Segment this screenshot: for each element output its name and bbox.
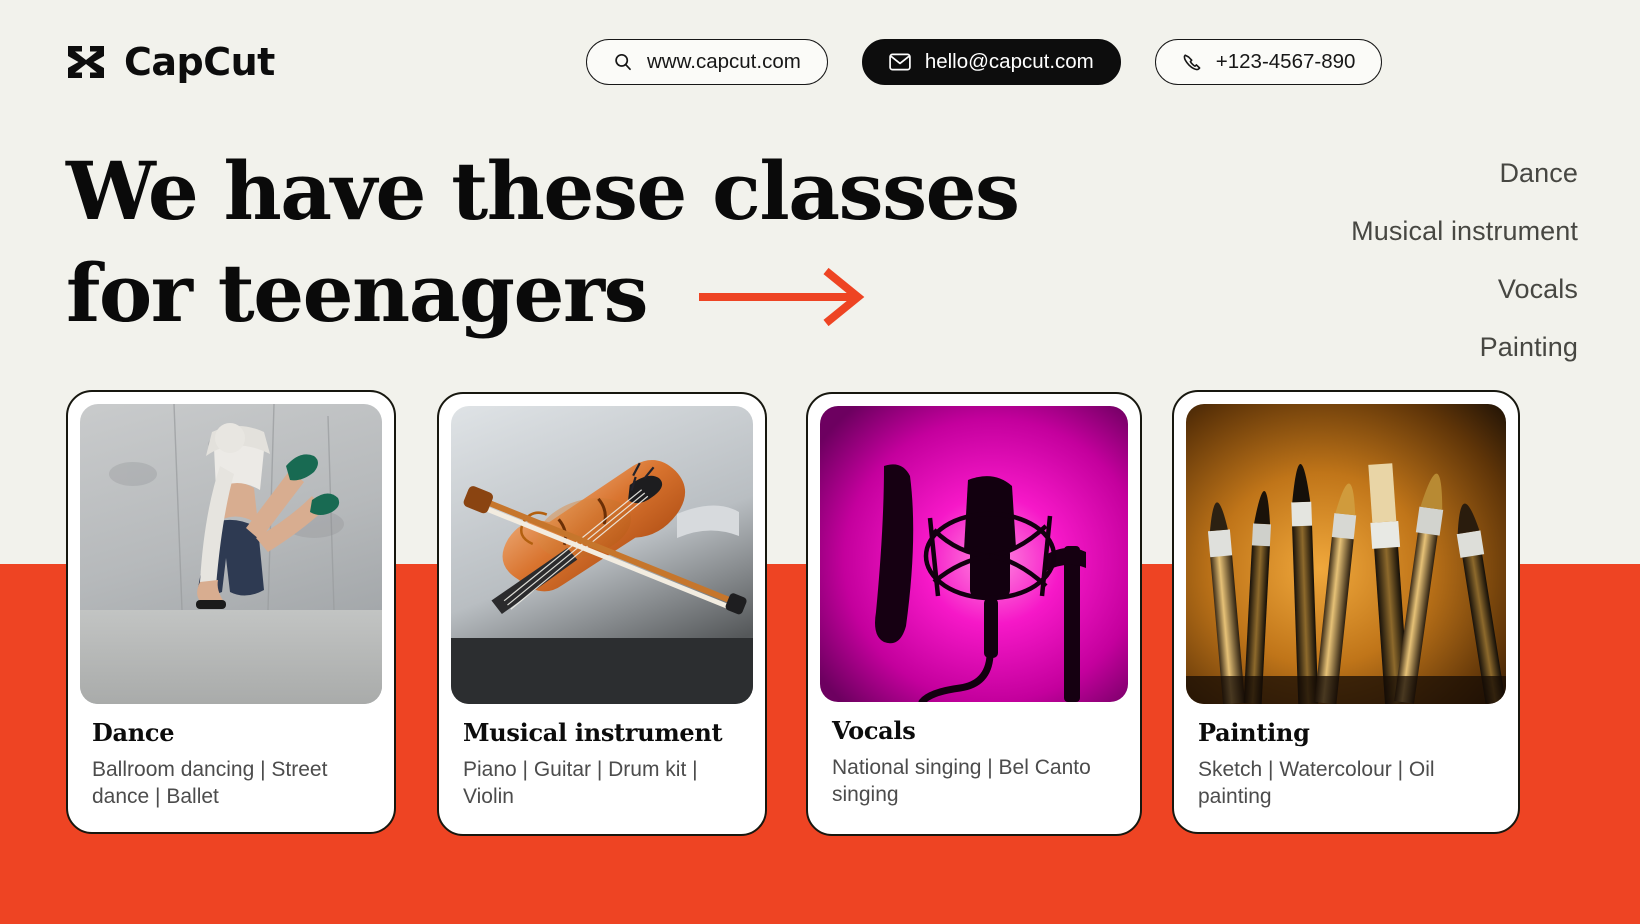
capcut-logo-icon: [62, 38, 110, 86]
phone-pill[interactable]: +123-4567-890: [1155, 39, 1383, 85]
nav-item-painting[interactable]: Painting: [1351, 318, 1578, 376]
card-title-musical-instrument: Musical instrument: [463, 718, 741, 747]
page-header: CapCut www.capcut.com hello@capcut.com: [0, 0, 1640, 124]
card-body-musical-instrument: Musical instrument Piano | Guitar | Drum…: [451, 704, 753, 811]
card-description-vocals: National singing | Bel Canto singing: [832, 755, 1116, 809]
card-title-painting: Painting: [1198, 718, 1494, 747]
website-pill-label: www.capcut.com: [647, 52, 801, 73]
card-image-vocals: [820, 406, 1128, 702]
nav-item-musical-instrument[interactable]: Musical instrument: [1351, 202, 1578, 260]
arrow-right-icon[interactable]: [695, 260, 867, 328]
mail-icon: [889, 53, 911, 71]
email-pill[interactable]: hello@capcut.com: [862, 39, 1121, 85]
card-description-dance: Ballroom dancing | Street dance | Ballet: [92, 757, 370, 811]
phone-icon: [1182, 52, 1202, 72]
headline-line-1: We have these classes: [66, 140, 1186, 242]
card-image-dance: [80, 404, 382, 704]
card-body-painting: Painting Sketch | Watercolour | Oil pain…: [1186, 704, 1506, 811]
class-card-vocals[interactable]: Vocals National singing | Bel Canto sing…: [806, 392, 1142, 836]
phone-pill-label: +123-4567-890: [1216, 52, 1356, 73]
class-card-dance[interactable]: Dance Ballroom dancing | Street dance | …: [66, 390, 396, 834]
contact-pill-group: www.capcut.com hello@capcut.com +123-456…: [586, 39, 1382, 85]
card-title-dance: Dance: [92, 718, 370, 747]
brand-logo-group[interactable]: CapCut: [62, 38, 275, 86]
card-body-dance: Dance Ballroom dancing | Street dance | …: [80, 704, 382, 811]
nav-item-dance[interactable]: Dance: [1351, 144, 1578, 202]
search-icon: [613, 52, 633, 72]
brand-name: CapCut: [124, 40, 275, 84]
email-pill-label: hello@capcut.com: [925, 52, 1094, 73]
nav-item-vocals[interactable]: Vocals: [1351, 260, 1578, 318]
card-image-musical-instrument: [451, 406, 753, 704]
class-card-painting[interactable]: Painting Sketch | Watercolour | Oil pain…: [1172, 390, 1520, 834]
website-pill[interactable]: www.capcut.com: [586, 39, 828, 85]
class-card-musical-instrument[interactable]: Musical instrument Piano | Guitar | Drum…: [437, 392, 767, 836]
card-body-vocals: Vocals National singing | Bel Canto sing…: [820, 702, 1128, 809]
card-description-painting: Sketch | Watercolour | Oil painting: [1198, 757, 1494, 811]
headline-line-2-row: for teenagers: [66, 242, 1186, 344]
card-image-painting: [1186, 404, 1506, 704]
card-description-musical-instrument: Piano | Guitar | Drum kit | Violin: [463, 757, 741, 811]
headline-line-2: for teenagers: [66, 242, 647, 344]
category-nav: Dance Musical instrument Vocals Painting: [1351, 144, 1578, 376]
card-title-vocals: Vocals: [832, 716, 1116, 745]
page-title: We have these classes for teenagers: [66, 140, 1186, 345]
